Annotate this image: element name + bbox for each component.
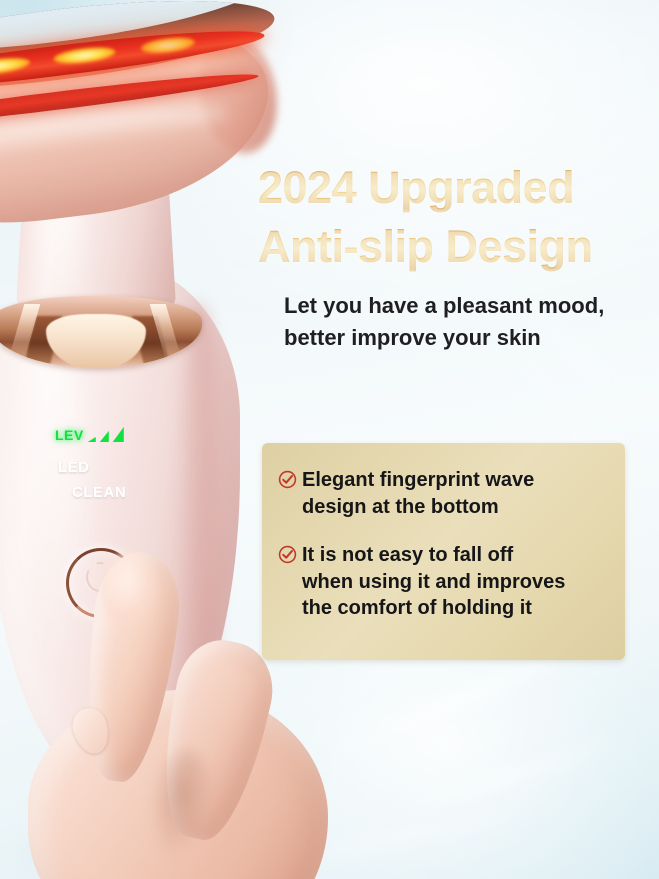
rose-gold-collar-ring [0,296,202,368]
beauty-device-product-image: LEV LED CLEAN [0,0,300,790]
feature-text: Elegant fingerprint wave design at the b… [302,467,534,520]
product-marketing-poster: LEV LED CLEAN 2024 Upgraded Anti-slip De… [0,0,659,879]
headline-line-1: 2024 Upgraded [258,158,648,217]
clean-mode-label: CLEAN [72,484,126,501]
led-mode-label: LED [58,459,90,476]
level-bar-2 [100,431,109,442]
feature-text: It is not easy to fall off when using it… [302,542,565,622]
headline-line-2: Anti-slip Design [258,217,648,276]
feature-2-line-1: It is not easy to fall off [302,542,565,569]
level-bar-1 [88,437,96,442]
led-glow-dot [53,45,116,66]
feature-2-line-2: when using it and improves [302,569,565,596]
device-body-shadow-edge [176,300,222,730]
feature-highlights-card: Elegant fingerprint wave design at the b… [262,443,625,660]
feature-1-line-2: design at the bottom [302,494,534,521]
feature-item: Elegant fingerprint wave design at the b… [278,467,613,520]
led-glow-dot [0,55,31,77]
level-bar-3 [113,427,124,442]
headline: 2024 Upgraded Anti-slip Design [258,158,648,277]
feature-1-line-1: Elegant fingerprint wave [302,467,534,494]
level-indicator-label: LEV [55,428,84,442]
check-circle-icon [278,470,297,489]
check-circle-icon [278,545,297,564]
feature-item: It is not easy to fall off when using it… [278,542,613,622]
led-glow-dot [140,35,195,55]
feature-2-line-3: the comfort of holding it [302,595,565,622]
collar-center-facet [46,314,146,368]
subtitle-line-2: better improve your skin [284,322,654,354]
level-indicator: LEV [55,427,124,442]
feature-list: Elegant fingerprint wave design at the b… [278,467,613,622]
subtitle: Let you have a pleasant mood, better imp… [284,290,654,353]
subtitle-line-1: Let you have a pleasant mood, [284,290,654,322]
